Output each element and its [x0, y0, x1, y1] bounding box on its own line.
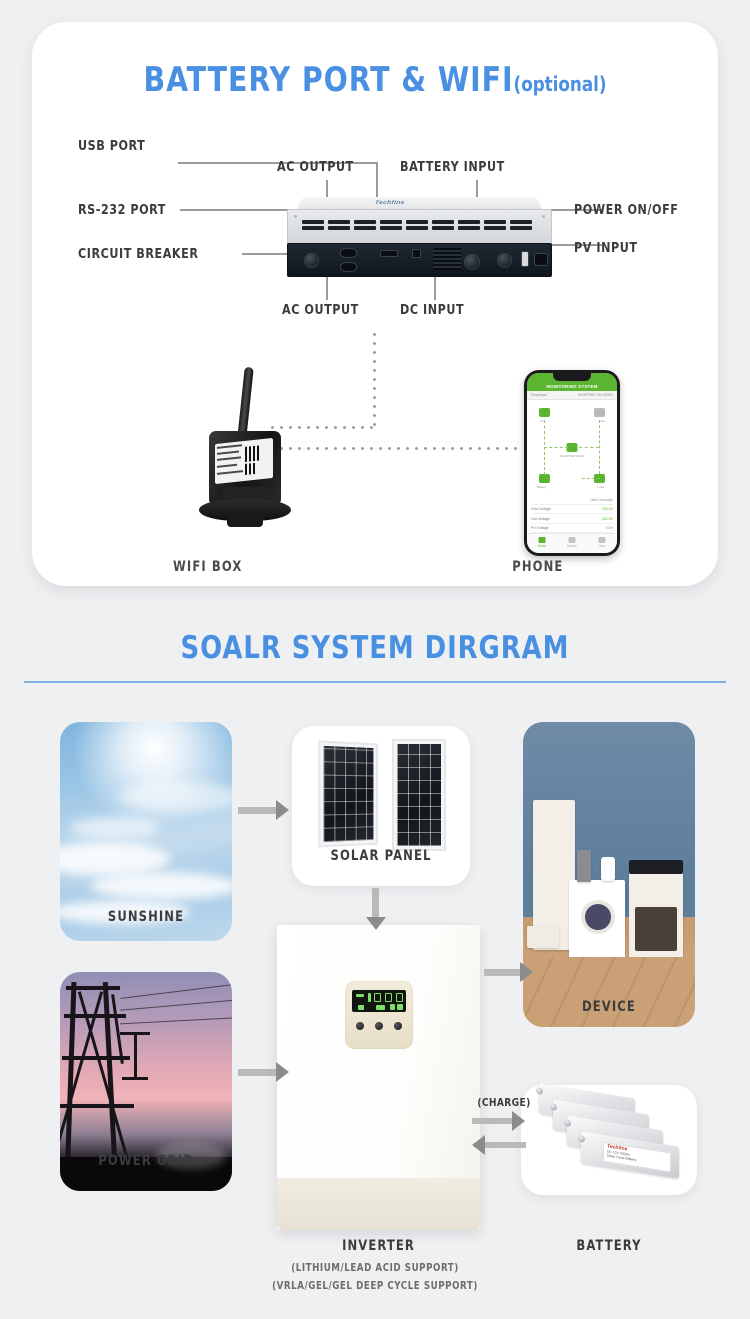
screw-right: [542, 215, 545, 218]
home-icon: [539, 537, 546, 543]
tile-power-grid: POWER GRID: [60, 972, 232, 1191]
arrow-inverter-to-battery: [472, 1112, 526, 1130]
inverter-port-panel: [287, 243, 552, 277]
arrow-inverter-to-device: [484, 962, 534, 982]
caption-device: DEVICE: [530, 999, 688, 1015]
phone-device: MONITORING SYSTEM Developer INVERTER SN …: [524, 370, 620, 556]
usb-port[interactable]: [412, 249, 421, 258]
caption-phone: PHONE: [512, 559, 563, 575]
page-title-optional: (optional): [514, 72, 607, 96]
flow-node-grid[interactable]: [594, 408, 605, 417]
button-enter[interactable]: [394, 1022, 402, 1030]
title-divider: [24, 681, 726, 683]
flow-node-load-label: Load: [597, 485, 604, 489]
battery-port-wifi-card: BATTERY PORT & WIFI(optional) USB PORT R…: [32, 22, 718, 586]
battery-terminal: [564, 1119, 571, 1127]
tile-sunshine: SUNSHINE: [60, 722, 232, 941]
phone-screen: MONITORING SYSTEM Developer INVERTER SN …: [527, 373, 617, 553]
caption-battery: BATTERY: [528, 1238, 690, 1254]
antenna-icon: [237, 367, 253, 440]
app-header-title: MONITORING SYSTEM: [546, 384, 597, 389]
row-label: Grid Voltage: [531, 507, 551, 511]
arrow-battery-to-inverter: [472, 1136, 526, 1154]
button-esc[interactable]: [356, 1022, 364, 1030]
inverter-front-face: [287, 209, 552, 245]
qr-code-icon: [245, 445, 260, 462]
user-icon: [599, 537, 606, 543]
flow-line-center-right: [579, 447, 599, 448]
battery-unit: Techfine DC 12V 200Ah Deep Cycle Battery: [581, 1131, 679, 1179]
label-ac-output-top: AC OUTPUT: [277, 159, 354, 175]
row-label: Out Voltage: [531, 517, 550, 521]
solar-cells: [323, 746, 373, 842]
caption-power-grid: POWER GRID: [67, 1153, 225, 1169]
battery-input-terminal[interactable]: [497, 253, 512, 268]
tile-device: DEVICE: [523, 722, 695, 1027]
battery-terminal: [578, 1135, 585, 1143]
arrow-sunshine-to-panel: [238, 800, 290, 820]
app-bottom-nav: Home Device Mine: [527, 533, 617, 553]
arrow-grid-to-inverter: [238, 1062, 290, 1082]
page-title-text: BATTERY PORT & WIFI: [143, 60, 513, 100]
battery-label: Techfine DC 12V 200Ah Deep Cycle Battery: [603, 1142, 671, 1173]
wifi-box-qr-label: [215, 438, 273, 484]
lcd-display: [352, 990, 406, 1012]
caption-inverter: INVERTER: [285, 1238, 472, 1254]
ac-output-socket-2[interactable]: [340, 262, 357, 272]
battery-terminal: [550, 1103, 557, 1111]
kettle: [601, 857, 615, 881]
label-ac-output-bottom: AC OUTPUT: [282, 302, 359, 318]
label-charge: (CHARGE): [477, 1096, 530, 1109]
label-dc-input: DC INPUT: [400, 302, 464, 318]
label-power-onoff: POWER ON/OFF: [574, 202, 678, 218]
inverter-unit-large: [277, 925, 480, 1230]
label-rs232-port: RS-232 PORT: [78, 202, 166, 218]
row-value: 230.0V: [602, 517, 613, 521]
inverter-base: [277, 1178, 480, 1230]
ac-output-socket-1[interactable]: [340, 248, 357, 258]
dc-input-terminal[interactable]: [464, 254, 480, 270]
pv-input-socket[interactable]: [534, 253, 548, 266]
power-switch[interactable]: [521, 251, 529, 267]
app-flow-diagram: PV Grid INVERTER 00001 Battery Load: [527, 400, 617, 495]
blender: [577, 850, 591, 882]
app-header: MONITORING SYSTEM: [527, 373, 617, 391]
flow-line-pv: [544, 420, 545, 445]
dotted-line-inverter-down: [373, 330, 376, 428]
app-data-row: PV Voltage 0.0V: [531, 524, 613, 533]
row-value: 0.0V: [606, 526, 613, 530]
flow-node-battery[interactable]: [539, 474, 550, 483]
flow-line-battery: [544, 447, 545, 475]
screw-left: [294, 215, 297, 218]
solar-panel-right: [392, 739, 446, 851]
flow-node-pv[interactable]: [539, 408, 550, 417]
wifi-box-body: [209, 431, 281, 506]
caption-wifi-box: WIFI BOX: [173, 559, 242, 575]
label-usb-port: USB PORT: [78, 138, 145, 154]
row-label: PV Voltage: [531, 526, 549, 530]
vent-slots-small: [433, 248, 461, 270]
arrow-panel-to-inverter: [366, 888, 386, 930]
device-photo: [523, 722, 695, 1027]
app-list-header[interactable]: Other Message: [531, 498, 613, 505]
section-title-solar-diagram: SOALR SYSTEM DIRGRAM: [26, 630, 724, 666]
app-subbar-left: Developer: [531, 393, 547, 397]
caption-solar-panel: SOLAR PANEL: [299, 848, 463, 864]
flow-node-grid-label: Grid: [599, 419, 605, 423]
solar-panel-left: [318, 740, 378, 847]
flow-line-center-left: [544, 447, 568, 448]
flow-node-battery-label: Battery: [537, 485, 547, 489]
caption-sunshine: SUNSHINE: [67, 909, 225, 925]
battery-note-1: (LITHIUM/LEAD ACID SUPPORT): [30, 1262, 720, 1274]
vent-grille: [302, 220, 538, 235]
button-up[interactable]: [375, 1022, 383, 1030]
flow-line-grid: [599, 420, 600, 474]
flow-line-load: [582, 478, 600, 479]
card-battery: Techfine DC 12V 200Ah Deep Cycle Battery: [521, 1085, 697, 1195]
app-data-row: Out Voltage 230.0V: [531, 514, 613, 523]
nav-item-device[interactable]: Device: [557, 534, 587, 553]
dotted-line-wifi-to-phone: [268, 447, 520, 450]
rs232-db9-port[interactable]: [380, 250, 398, 257]
flow-node-inverter[interactable]: [567, 443, 578, 452]
battery-terminal: [536, 1087, 543, 1095]
solar-cells: [397, 744, 441, 846]
circuit-breaker-knob[interactable]: [304, 253, 319, 268]
label-pv-input: PV INPUT: [574, 240, 638, 256]
phone-notch: [553, 373, 591, 381]
card-solar-panel: SOLAR PANEL: [292, 726, 470, 886]
app-data-list: Other Message Grid Voltage 230.0V Out Vo…: [527, 495, 617, 533]
flow-node-inverter-label: INVERTER 00001: [560, 454, 584, 458]
wifi-box-connector: [227, 515, 263, 527]
microwave: [527, 926, 559, 948]
inverter-rear-unit: Techfine: [287, 193, 552, 277]
row-value: 230.0V: [602, 507, 613, 511]
qr-code-icon-2: [245, 463, 256, 475]
brand-logo: Techfine: [374, 200, 404, 205]
device-icon: [569, 537, 576, 543]
app-subbar-right[interactable]: INVERTER SN 00001: [578, 393, 613, 397]
battery-note-2: (VRLA/GEL/GEL DEEP CYCLE SUPPORT): [30, 1280, 720, 1292]
app-data-row: Grid Voltage 230.0V: [531, 505, 613, 514]
nav-item-mine[interactable]: Mine: [587, 534, 617, 553]
app-subbar: Developer INVERTER SN 00001: [527, 391, 617, 400]
wifi-box-device: [197, 367, 297, 552]
label-battery-input: BATTERY INPUT: [400, 159, 505, 175]
page-title: BATTERY PORT & WIFI(optional): [56, 60, 694, 100]
label-circuit-breaker: CIRCUIT BREAKER: [78, 246, 198, 262]
inverter-control-panel[interactable]: [345, 981, 413, 1049]
nav-item-home[interactable]: Home: [527, 534, 557, 553]
